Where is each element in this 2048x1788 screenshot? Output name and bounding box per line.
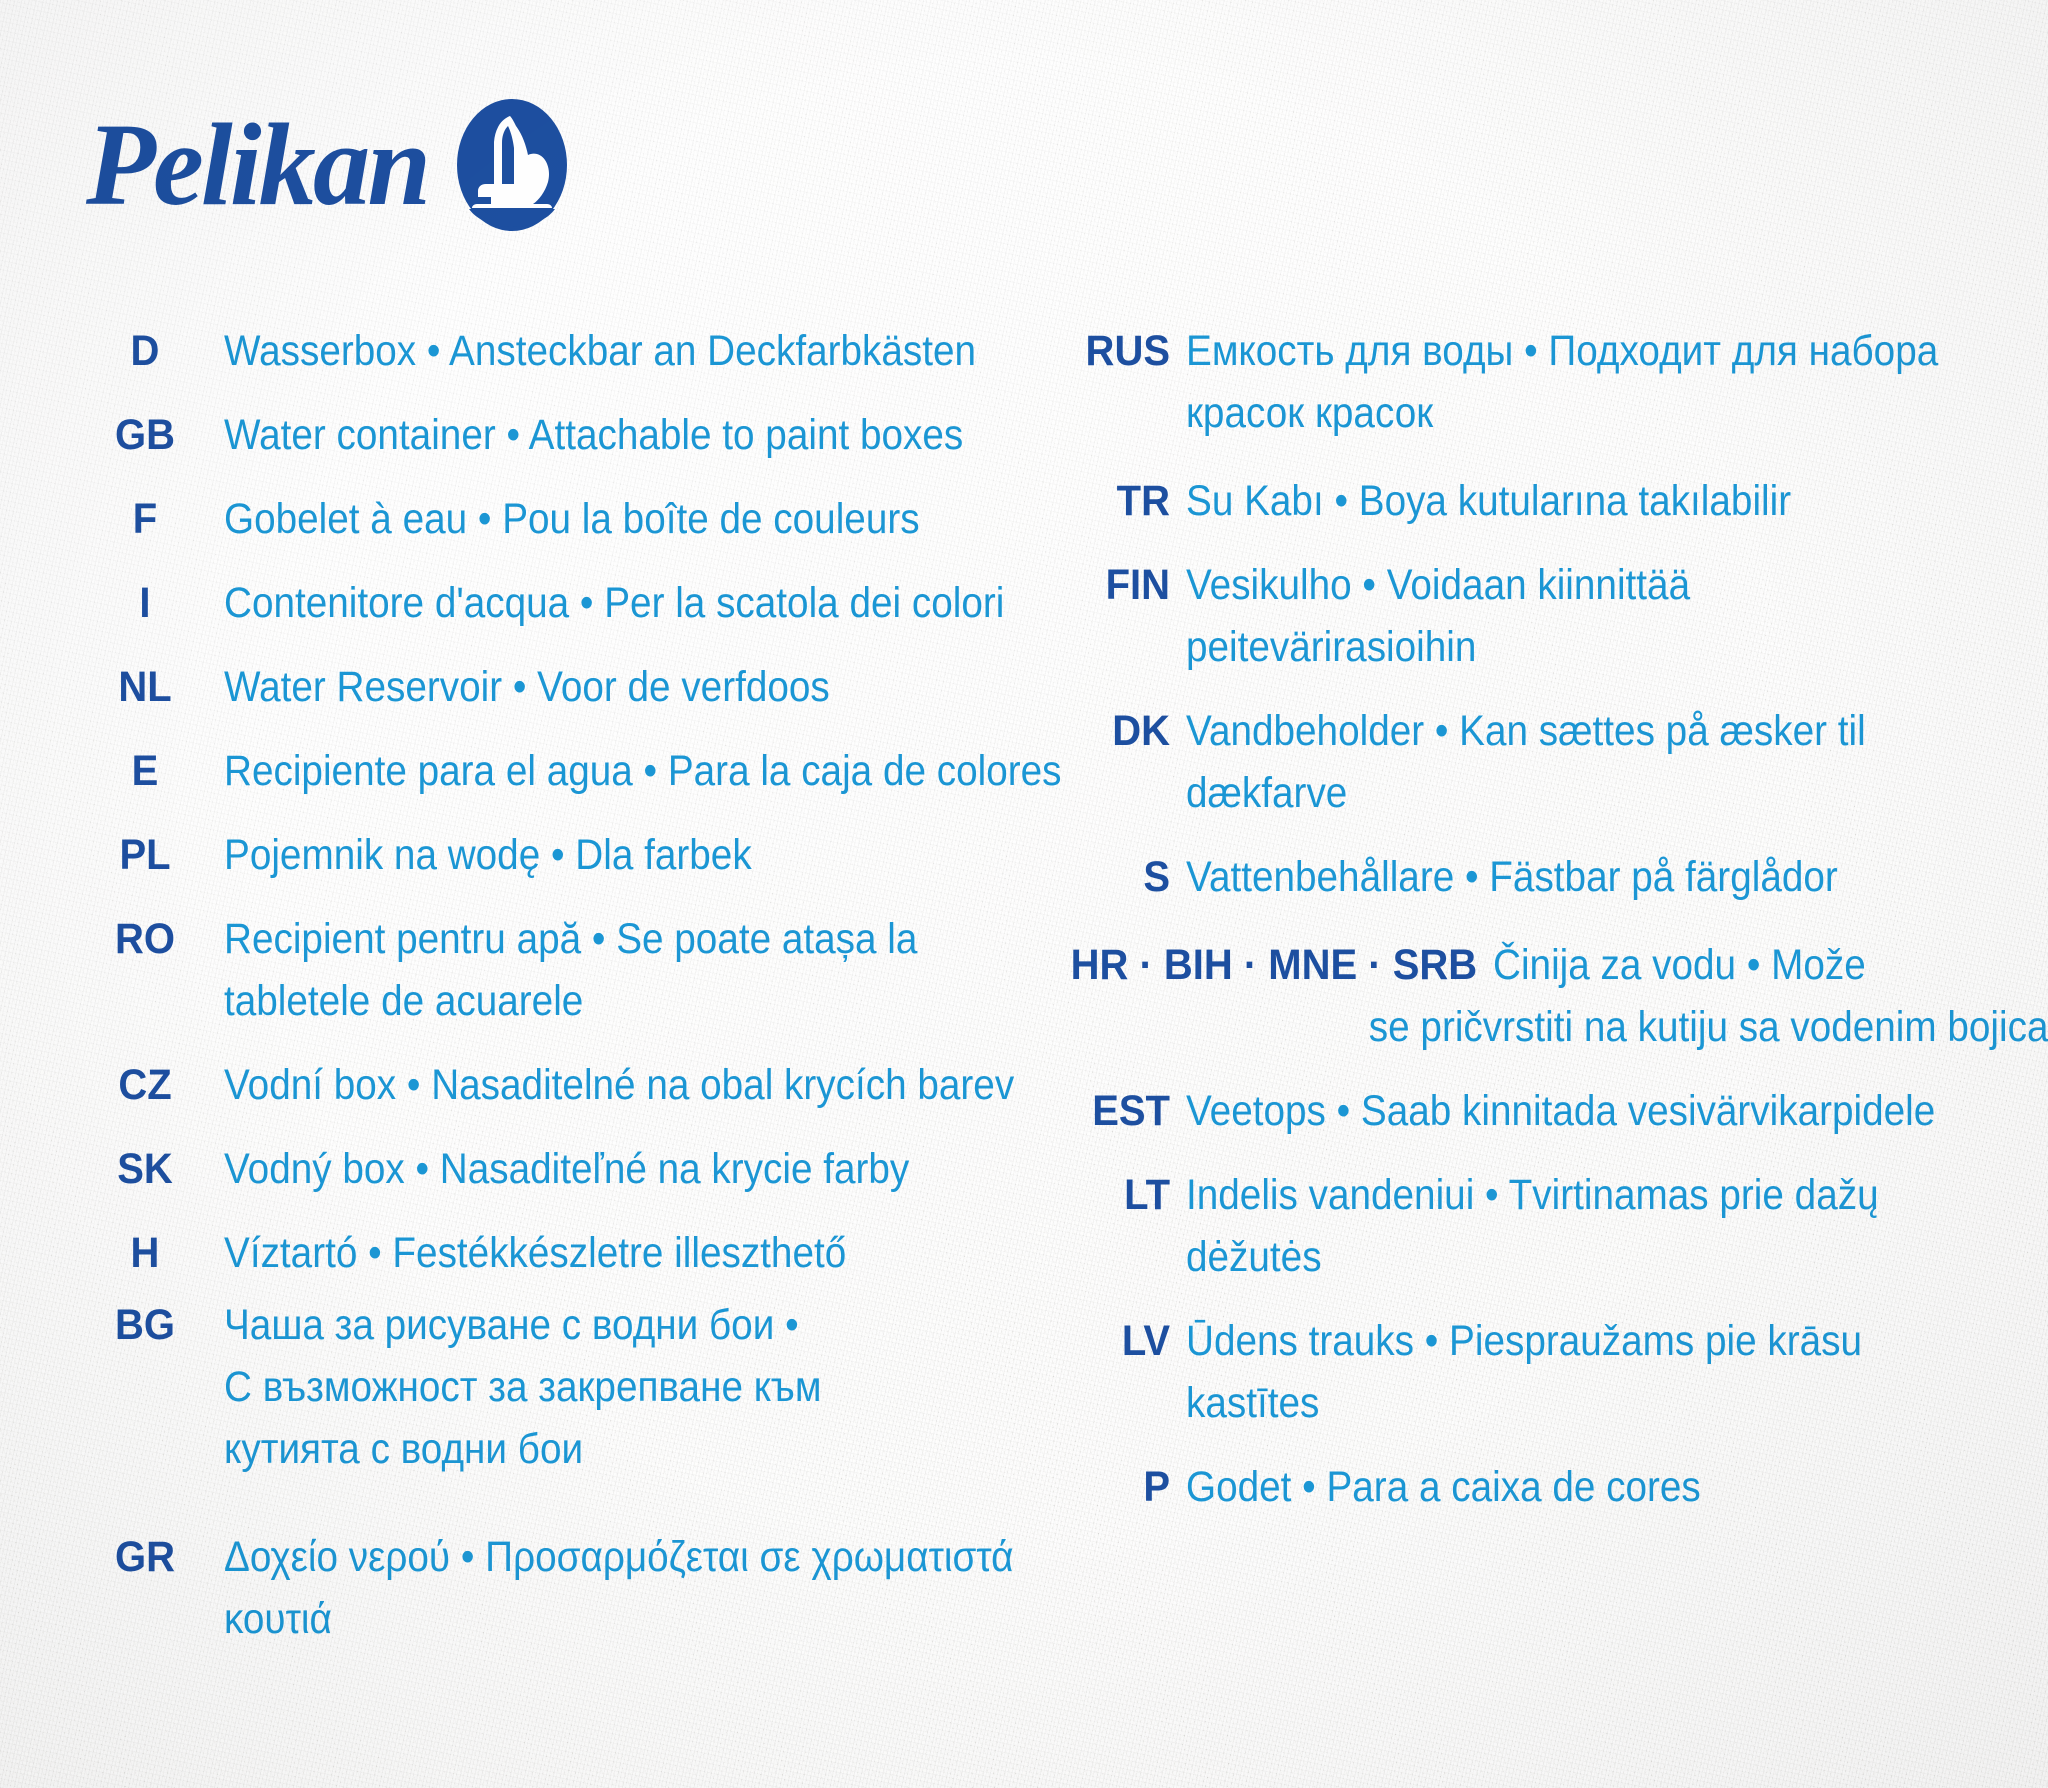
description-line: Ūdens trauks • Piespraužams pie krāsu	[1186, 1310, 1919, 1372]
right-language-column: RUSЕмкость для воды • Подходит для набор…	[1040, 320, 2000, 1540]
language-entry: DWasserbox • Ansteckbar an Deckfarbkäste…	[80, 320, 1010, 382]
language-code: EST	[1049, 1080, 1170, 1142]
language-code: HR · BIH · MNE · SRB	[1071, 934, 1478, 996]
language-code: PL	[85, 824, 206, 886]
language-description: Víztartó • Festékkészletre illeszthető	[224, 1222, 931, 1284]
language-entry: FINVesikulho • Voidaan kiinnittääpeitevä…	[1040, 554, 2000, 678]
language-entry: DKVandbeholder • Kan sættes på æsker til…	[1040, 700, 2000, 824]
language-entry: LTIndelis vandeniui • Tvirtinamas prie d…	[1040, 1164, 2000, 1288]
language-description: Činija za vodu • Možese pričvrstiti na k…	[1493, 934, 2048, 1058]
language-description: Емкость для воды • Подходит для наборакр…	[1186, 320, 1938, 444]
label-content: Pelikan DWasserbox • Ansteckbar an Deckf…	[0, 0, 2048, 1788]
description-line: Vattenbehållare • Fästbar på färglådor	[1186, 846, 1919, 908]
language-entry: PLPojemnik na wodę • Dla farbek	[80, 824, 1010, 886]
language-code: E	[85, 740, 206, 802]
language-code: RUS	[1049, 320, 1170, 382]
description-line: kastītes	[1186, 1372, 1919, 1434]
language-description: Vattenbehållare • Fästbar på färglådor	[1186, 846, 1919, 908]
language-description: Recipient pentru apă • Se poate atașa la…	[224, 908, 931, 1032]
language-code: FIN	[1049, 554, 1170, 616]
description-line: Pojemnik na wodę • Dla farbek	[224, 824, 931, 886]
language-entry: TRSu Kabı • Boya kutularına takılabilir	[1040, 470, 2000, 532]
language-entry: IContenitore d'acqua • Per la scatola de…	[80, 572, 1010, 634]
description-line: Recipient pentru apă • Se poate atașa la	[224, 908, 931, 970]
language-entry: HVíztartó • Festékkészletre illeszthető	[80, 1222, 1010, 1284]
language-description: Recipiente para el agua • Para la caja d…	[224, 740, 1062, 802]
language-entry: GRΔοχείο νερού • Προσαρμόζεται σε χρωματ…	[80, 1526, 1010, 1650]
language-description: Δοχείο νερού • Προσαρμόζεται σε χρωματισ…	[224, 1526, 1013, 1650]
language-entry: ESTVeetops • Saab kinnitada vesivärvikar…	[1040, 1080, 2000, 1142]
language-code: CZ	[85, 1054, 206, 1116]
language-description: Vesikulho • Voidaan kiinnittääpeitevärir…	[1186, 554, 1919, 678]
language-entry: SKVodný box • Nasaditeľné na krycie farb…	[80, 1138, 1010, 1200]
language-code: BG	[85, 1294, 206, 1356]
description-line: Water container • Attachable to paint bo…	[224, 404, 963, 466]
description-line: Емкость для воды • Подходит для набора	[1186, 320, 1938, 382]
description-line: Indelis vandeniui • Tvirtinamas prie daž…	[1186, 1164, 1919, 1226]
language-description: Ūdens trauks • Piespraužams pie krāsukas…	[1186, 1310, 1919, 1434]
language-entry: CZVodní box • Nasaditelné na obal krycíc…	[80, 1054, 1010, 1116]
language-description: Godet • Para a caixa de cores	[1186, 1456, 1919, 1518]
description-line: tabletele de acuarele	[224, 970, 931, 1032]
language-code: GR	[85, 1526, 206, 1588]
language-code: GB	[85, 404, 206, 466]
description-line: Veetops • Saab kinnitada vesivärvikarpid…	[1186, 1080, 1935, 1142]
language-entry: FGobelet à eau • Pou la boîte de couleur…	[80, 488, 1010, 550]
language-code: TR	[1049, 470, 1170, 532]
language-description: Water container • Attachable to paint bo…	[224, 404, 963, 466]
language-entry: BGЧаша за рисуване с водни бои •С възмож…	[80, 1294, 1010, 1480]
language-entry: HR · BIH · MNE · SRBČinija za vodu • Mož…	[1040, 934, 2000, 1058]
language-entry: RUSЕмкость для воды • Подходит для набор…	[1040, 320, 2000, 444]
description-line: Vodný box • Nasaditeľné na krycie farby	[224, 1138, 931, 1200]
description-line: С възможност за закрепване към	[224, 1356, 931, 1418]
description-line: Činija za vodu • Može	[1493, 934, 2048, 996]
language-code: SK	[85, 1138, 206, 1200]
language-code: H	[85, 1222, 206, 1284]
pelikan-wordmark: Pelikan	[86, 106, 428, 224]
description-line: κουτιά	[224, 1588, 1013, 1650]
description-line: Water Reservoir • Voor de verfdoos	[224, 656, 931, 718]
language-entry: ERecipiente para el agua • Para la caja …	[80, 740, 1010, 802]
language-code: LT	[1049, 1164, 1170, 1226]
language-code: F	[85, 488, 206, 550]
description-line: Чаша за рисуване с водни бои •	[224, 1294, 931, 1356]
language-description: Su Kabı • Boya kutularına takılabilir	[1186, 470, 1919, 532]
pelican-in-nest-oval-icon	[453, 96, 571, 234]
description-line: Δοχείο νερού • Προσαρμόζεται σε χρωματισ…	[224, 1526, 1013, 1588]
language-description: Vodný box • Nasaditeľné na krycie farby	[224, 1138, 931, 1200]
language-code: I	[85, 572, 206, 634]
language-entry: PGodet • Para a caixa de cores	[1040, 1456, 2000, 1518]
description-line: Wasserbox • Ansteckbar an Deckfarbkästen	[224, 320, 976, 382]
language-entry: LVŪdens trauks • Piespraužams pie krāsuk…	[1040, 1310, 2000, 1434]
description-line: dėžutės	[1186, 1226, 1919, 1288]
language-description: Vandbeholder • Kan sættes på æsker tildæ…	[1186, 700, 1919, 824]
description-line: dækfarve	[1186, 762, 1919, 824]
language-entry: GBWater container • Attachable to paint …	[80, 404, 1010, 466]
language-code: DK	[1049, 700, 1170, 762]
description-line: Vandbeholder • Kan sættes på æsker til	[1186, 700, 1919, 762]
description-line: se pričvrstiti na kutiju sa vodenim boji…	[1369, 996, 2048, 1058]
description-line: peitevärirasioihin	[1186, 616, 1919, 678]
language-code: D	[85, 320, 206, 382]
language-description: Veetops • Saab kinnitada vesivärvikarpid…	[1186, 1080, 1935, 1142]
description-line: красок красок	[1186, 382, 1938, 444]
language-description: Gobelet à eau • Pou la boîte de couleurs	[224, 488, 931, 550]
description-line: Contenitore d'acqua • Per la scatola dei…	[224, 572, 1004, 634]
description-line: Su Kabı • Boya kutularına takılabilir	[1186, 470, 1919, 532]
language-code: S	[1049, 846, 1170, 908]
left-language-column: DWasserbox • Ansteckbar an Deckfarbkäste…	[80, 320, 1010, 1672]
language-code: RO	[85, 908, 206, 970]
language-description: Чаша за рисуване с водни бои •С възможно…	[224, 1294, 931, 1480]
pelikan-logo: Pelikan	[86, 96, 571, 234]
language-entry: RORecipient pentru apă • Se poate atașa …	[80, 908, 1010, 1032]
language-code: P	[1049, 1456, 1170, 1518]
description-line: Godet • Para a caixa de cores	[1186, 1456, 1919, 1518]
language-description: Vodní box • Nasaditelné na obal krycích …	[224, 1054, 1014, 1116]
language-code: NL	[85, 656, 206, 718]
description-line: Víztartó • Festékkészletre illeszthető	[224, 1222, 931, 1284]
language-code: LV	[1049, 1310, 1170, 1372]
language-entry: NLWater Reservoir • Voor de verfdoos	[80, 656, 1010, 718]
language-entry: SVattenbehållare • Fästbar på färglådor	[1040, 846, 2000, 908]
language-description: Contenitore d'acqua • Per la scatola dei…	[224, 572, 1004, 634]
language-description: Wasserbox • Ansteckbar an Deckfarbkästen	[224, 320, 976, 382]
language-description: Pojemnik na wodę • Dla farbek	[224, 824, 931, 886]
language-description: Water Reservoir • Voor de verfdoos	[224, 656, 931, 718]
description-line: Gobelet à eau • Pou la boîte de couleurs	[224, 488, 931, 550]
description-line: Vesikulho • Voidaan kiinnittää	[1186, 554, 1919, 616]
description-line: кутията с водни бои	[224, 1418, 931, 1480]
description-line: Vodní box • Nasaditelné na obal krycích …	[224, 1054, 1014, 1116]
language-description: Indelis vandeniui • Tvirtinamas prie daž…	[1186, 1164, 1919, 1288]
description-line: Recipiente para el agua • Para la caja d…	[224, 740, 1062, 802]
